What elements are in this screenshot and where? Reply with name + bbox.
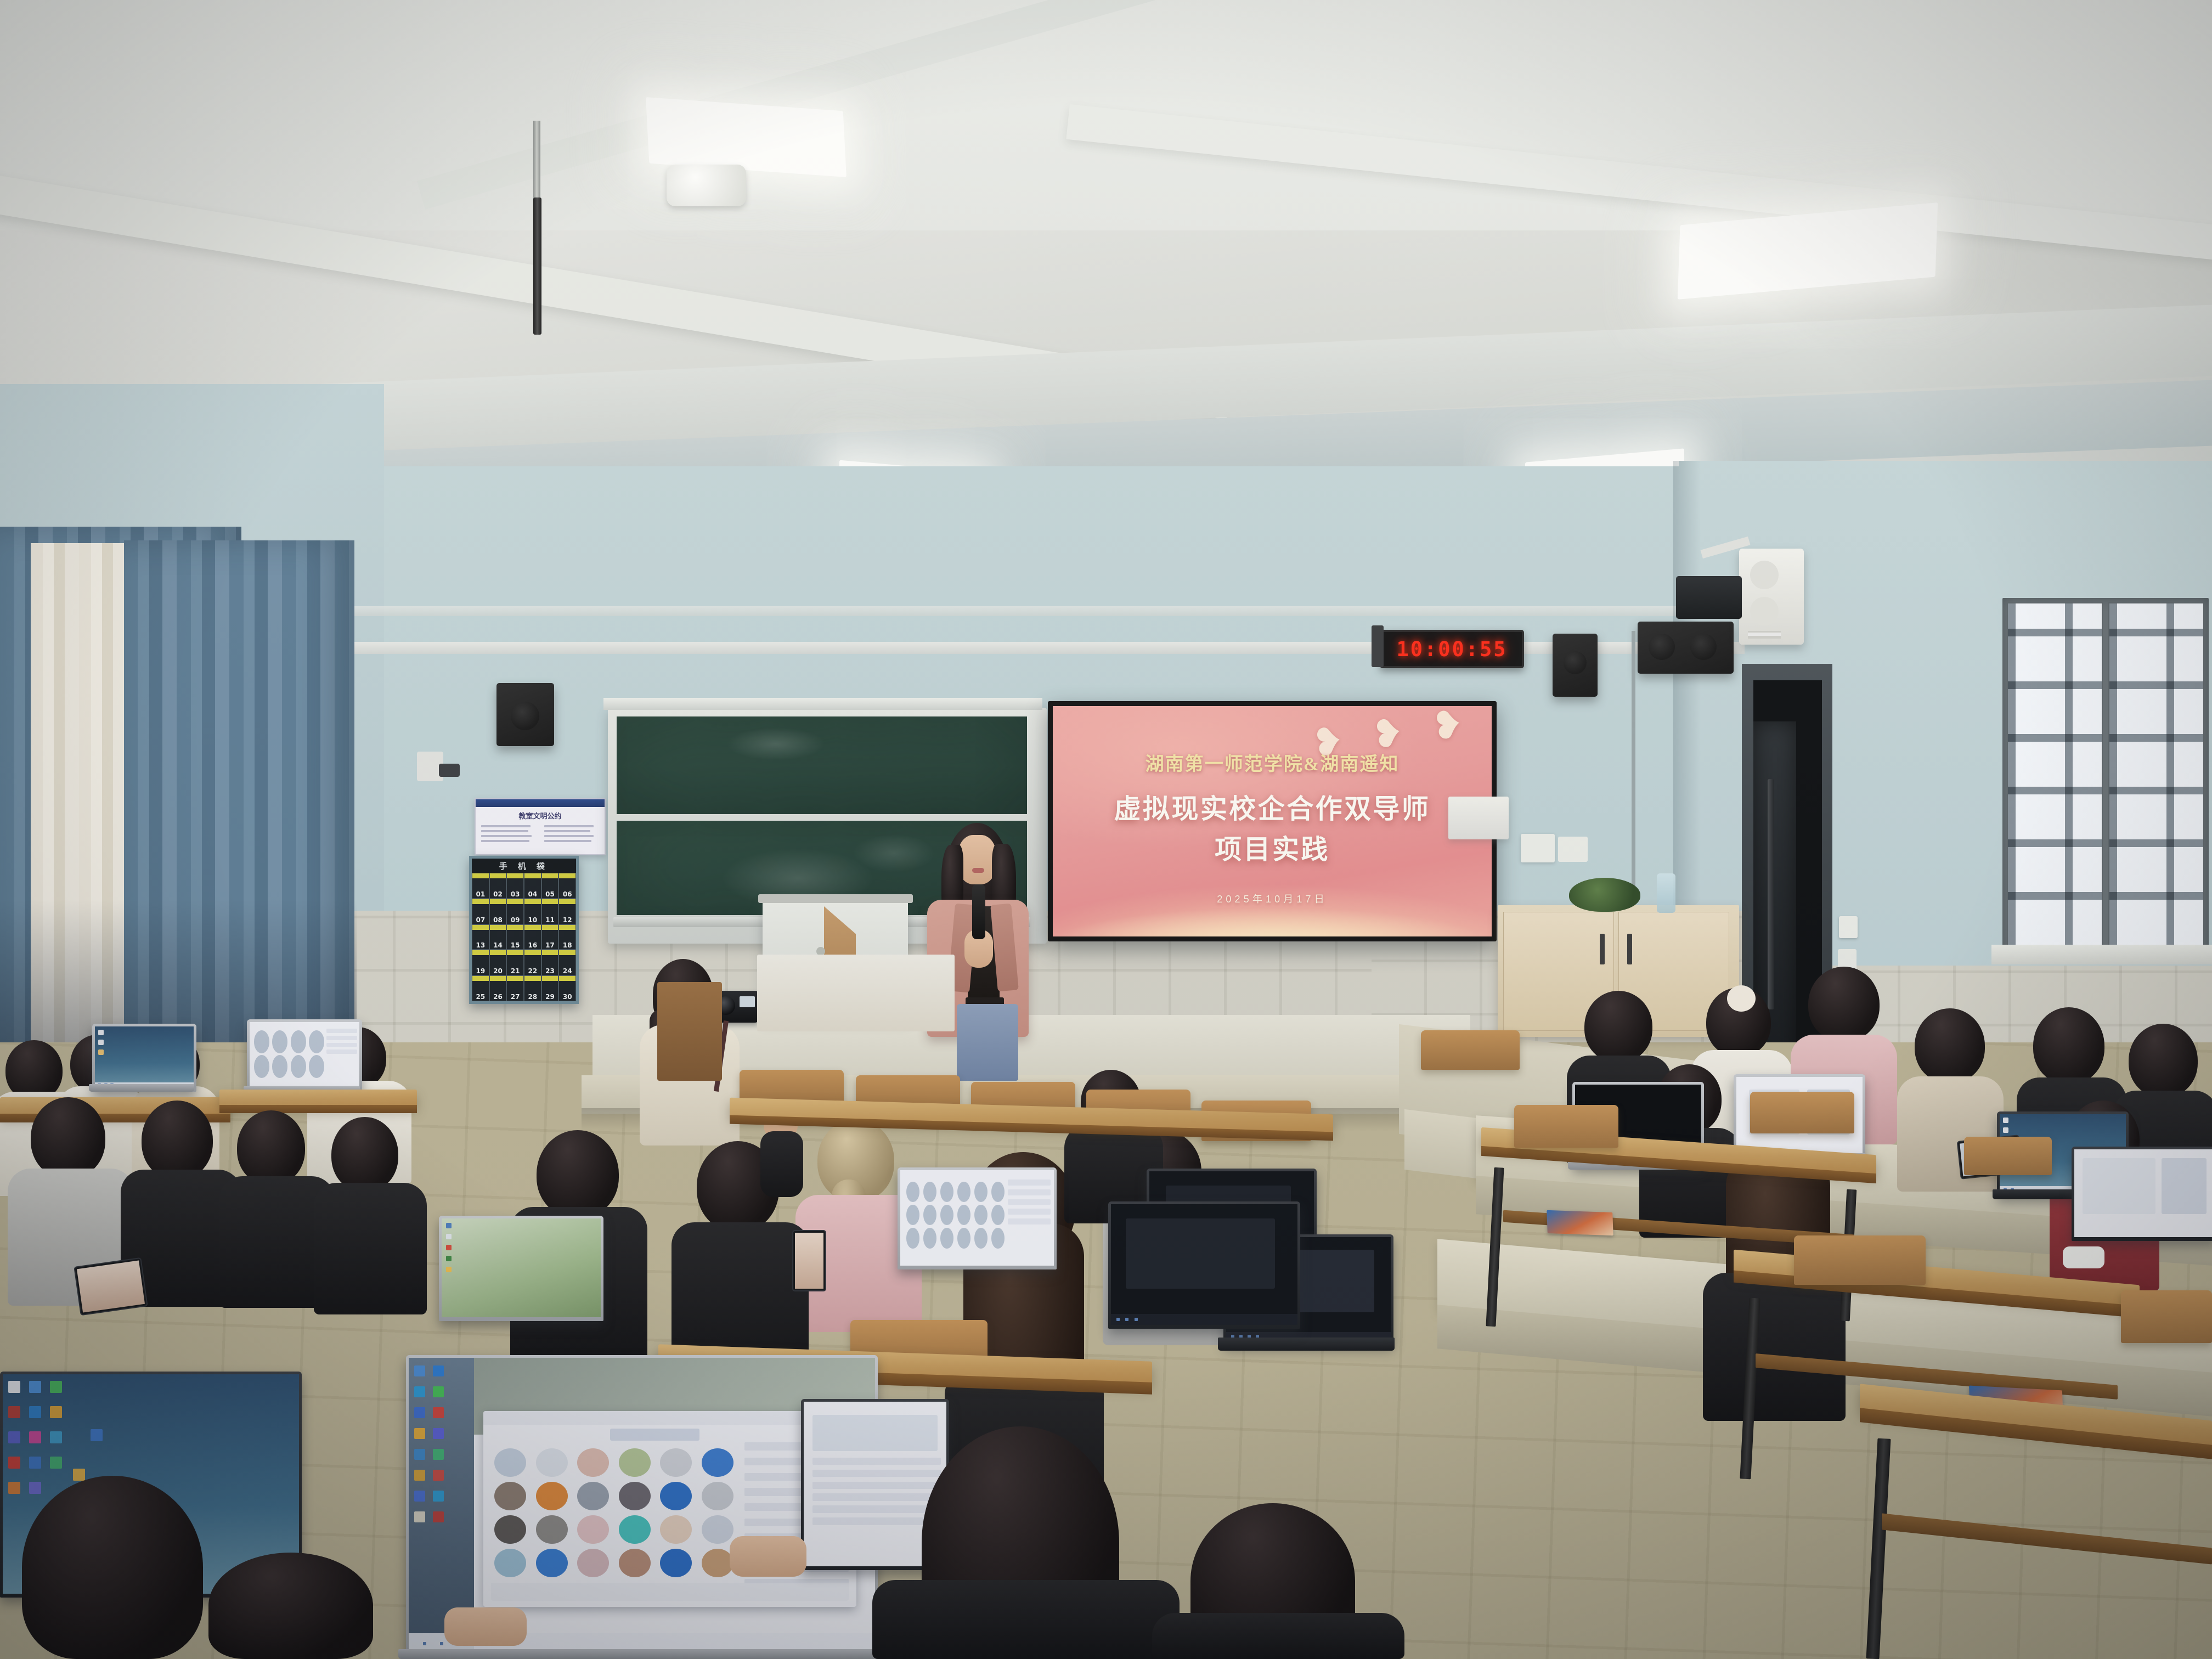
wall-ac-indoor-unit bbox=[1676, 576, 1742, 619]
laptop-screen bbox=[900, 1170, 1054, 1266]
blackboard-upper-rail bbox=[603, 698, 1042, 710]
wall-cabinet[interactable] bbox=[1448, 797, 1509, 839]
phone-pocket[interactable]: 18 bbox=[558, 924, 576, 950]
clock-mount bbox=[1372, 625, 1384, 667]
student-head bbox=[1915, 1008, 1985, 1083]
phone-pocket-number: 19 bbox=[476, 967, 485, 975]
phone-pocket[interactable]: 11 bbox=[541, 899, 559, 924]
window-leaf-right[interactable] bbox=[2108, 602, 2204, 953]
laptop-icon[interactable] bbox=[439, 1216, 603, 1321]
laptop-base[interactable] bbox=[89, 1084, 194, 1092]
hand-on-keyboard bbox=[444, 1607, 527, 1646]
phone-pocket[interactable]: 13 bbox=[472, 924, 489, 950]
air-conditioner bbox=[1739, 549, 1804, 645]
hanging-rod-lower bbox=[533, 198, 541, 335]
speaker-icon bbox=[1553, 634, 1598, 697]
course-booklet[interactable] bbox=[1547, 1210, 1613, 1235]
phone-pocket[interactable]: 21 bbox=[506, 950, 524, 975]
blackboard-panel-upper bbox=[617, 716, 1027, 814]
clock-time: 10:00:55 bbox=[1397, 637, 1508, 661]
microphone-icon[interactable] bbox=[972, 884, 985, 939]
phone-pocket-row: 252627282930 bbox=[472, 975, 576, 1001]
phone-pocket-number: 16 bbox=[528, 941, 538, 949]
projection-screen-content: ❥ ❥ ❥ 湖南第一师范学院&湖南遥知 虚拟现实校企合作双导师 项目实践 202… bbox=[1053, 706, 1492, 936]
laptop-icon[interactable] bbox=[247, 1019, 362, 1094]
window-leaf-left[interactable] bbox=[2007, 602, 2103, 953]
phone-pocket[interactable]: 30 bbox=[558, 975, 576, 1001]
phone-pocket[interactable]: 15 bbox=[506, 924, 524, 950]
presenter-mouth bbox=[972, 868, 984, 873]
student-head bbox=[142, 1101, 213, 1180]
chat-window[interactable] bbox=[483, 1411, 856, 1606]
phone-pocket-number: 17 bbox=[545, 941, 555, 949]
student-head bbox=[2033, 1007, 2104, 1084]
water-bottle[interactable] bbox=[1657, 873, 1675, 913]
phone-pocket-row: 070809101112 bbox=[472, 899, 576, 924]
chair[interactable] bbox=[2121, 1290, 2212, 1343]
phone-pocket-number: 08 bbox=[493, 916, 503, 924]
phone-pocket-row: 131415161718 bbox=[472, 924, 576, 950]
hand-on-keyboard bbox=[730, 1536, 806, 1577]
laptop-icon[interactable] bbox=[2072, 1147, 2212, 1241]
light-switch[interactable] bbox=[1839, 916, 1858, 938]
phone-pocket[interactable]: 26 bbox=[489, 975, 507, 1001]
phone-pocket[interactable]: 07 bbox=[472, 899, 489, 924]
wall-outlet-panel[interactable] bbox=[1521, 834, 1555, 862]
notice-board-title: 教室文明公约 bbox=[476, 810, 605, 821]
student-head bbox=[537, 1130, 619, 1218]
phone-pocket-number: 04 bbox=[528, 890, 538, 898]
wall-camera-icon bbox=[439, 764, 460, 777]
phone-pocket-number: 20 bbox=[493, 967, 503, 975]
chair[interactable] bbox=[1964, 1137, 2052, 1175]
student-head bbox=[237, 1110, 305, 1185]
phone-pocket-number: 15 bbox=[511, 941, 520, 949]
cabinet-handle[interactable] bbox=[1600, 934, 1605, 964]
phone-pocket-number: 12 bbox=[563, 916, 572, 924]
phone-pocket[interactable]: 14 bbox=[489, 924, 507, 950]
notice-board-header bbox=[476, 799, 605, 807]
cabinet-handle[interactable] bbox=[1627, 934, 1632, 964]
phone-pocket-number: 10 bbox=[528, 916, 538, 924]
phone-pocket[interactable]: 22 bbox=[524, 950, 541, 975]
phone-pocket-number: 02 bbox=[493, 890, 503, 898]
phone-pocket-number: 06 bbox=[563, 890, 572, 898]
door-push-bar[interactable] bbox=[1768, 779, 1774, 1009]
lecture-hall-photo: 教室文明公约 手 机 袋 010203040506070809101112131… bbox=[0, 0, 2212, 1659]
phone-pocket[interactable]: 03 bbox=[506, 873, 524, 899]
hair-scrunchie bbox=[1727, 985, 1756, 1012]
smartphone[interactable] bbox=[792, 1230, 826, 1291]
wall-rail bbox=[340, 642, 1745, 654]
phone-pocket-rows: 0102030405060708091011121314151617181920… bbox=[472, 873, 576, 1001]
speaker-icon bbox=[1638, 622, 1734, 674]
wall-outlet-panel[interactable] bbox=[1558, 837, 1588, 862]
phone-pocket-number: 01 bbox=[476, 890, 485, 898]
student-head bbox=[1808, 967, 1880, 1041]
phone-pocket[interactable]: 28 bbox=[524, 975, 541, 1001]
phone-pocket-row: 192021222324 bbox=[472, 950, 576, 975]
chair[interactable] bbox=[1514, 1105, 1618, 1148]
phone-pocket[interactable]: 09 bbox=[506, 899, 524, 924]
student-torso-foreground bbox=[1152, 1613, 1404, 1659]
laptop-screen bbox=[95, 1026, 194, 1088]
smartphone[interactable] bbox=[74, 1257, 148, 1316]
laptop-base[interactable] bbox=[1218, 1338, 1395, 1351]
phone-pocket-number: 22 bbox=[528, 967, 538, 975]
podium-top-edge bbox=[758, 894, 913, 903]
phone-pocket-number: 07 bbox=[476, 916, 485, 924]
laptop-base-foreground[interactable] bbox=[398, 1649, 881, 1659]
screen-subtitle: 湖南第一师范学院&湖南遥知 bbox=[1053, 749, 1492, 776]
hanging-rod bbox=[533, 121, 540, 203]
phone-pocket[interactable]: 06 bbox=[558, 873, 576, 899]
phone-pocket[interactable]: 08 bbox=[489, 899, 507, 924]
student-torso-foreground bbox=[872, 1580, 1180, 1659]
laptop-icon[interactable] bbox=[92, 1024, 196, 1092]
phone-pocket[interactable]: 05 bbox=[541, 873, 559, 899]
phone-pocket-number: 03 bbox=[511, 890, 520, 898]
phone-pocket-row: 010203040506 bbox=[472, 873, 576, 899]
phone-pocket-number: 28 bbox=[528, 993, 538, 1001]
phone-pocket[interactable]: 29 bbox=[541, 975, 559, 1001]
smoke-detector-icon bbox=[667, 165, 746, 206]
projection-screen: ❥ ❥ ❥ 湖南第一师范学院&湖南遥知 虚拟现实校企合作双导师 项目实践 202… bbox=[1048, 701, 1497, 941]
phone-pocket[interactable]: 01 bbox=[472, 873, 489, 899]
student-torso bbox=[314, 1183, 427, 1314]
phone-pocket-number: 13 bbox=[476, 941, 485, 949]
window-sill bbox=[1991, 945, 2212, 964]
phone-pocket[interactable]: 10 bbox=[524, 899, 541, 924]
raised-arm-sleeve bbox=[760, 1131, 803, 1197]
phone-pocket[interactable]: 19 bbox=[472, 950, 489, 975]
phone-pocket[interactable]: 24 bbox=[558, 950, 576, 975]
presenter-jeans bbox=[957, 1004, 1018, 1081]
window[interactable] bbox=[2002, 598, 2209, 958]
phone-pocket[interactable]: 02 bbox=[489, 873, 507, 899]
phone-pocket[interactable]: 23 bbox=[541, 950, 559, 975]
cable-run bbox=[1632, 631, 1635, 916]
phone-pocket-header: 手 机 袋 bbox=[472, 859, 576, 873]
phone-pocket-number: 23 bbox=[545, 967, 555, 975]
student-torso bbox=[1703, 1273, 1846, 1421]
phone-pocket-number: 24 bbox=[563, 967, 572, 975]
student-head bbox=[331, 1117, 398, 1192]
phone-pocket-number: 18 bbox=[563, 941, 572, 949]
laptop-screen bbox=[1111, 1204, 1297, 1325]
laptop-screen bbox=[442, 1218, 601, 1317]
student-head bbox=[31, 1097, 105, 1178]
laptop-screen bbox=[2074, 1149, 2212, 1237]
phone-pocket[interactable]: 25 bbox=[472, 975, 489, 1001]
phone-pocket[interactable]: 20 bbox=[489, 950, 507, 975]
phone-pocket[interactable]: 04 bbox=[524, 873, 541, 899]
chair[interactable] bbox=[1750, 1092, 1854, 1133]
phone-pocket-number: 30 bbox=[563, 993, 572, 1001]
phone-pocket-number: 27 bbox=[511, 993, 520, 1001]
phone-pocket-number: 05 bbox=[545, 890, 555, 898]
student-head bbox=[2129, 1024, 2198, 1097]
student-head bbox=[1584, 991, 1652, 1062]
wall-rail bbox=[340, 606, 1745, 616]
phone-pocket-chart: 手 机 袋 0102030405060708091011121314151617… bbox=[469, 856, 579, 1004]
phone-pocket-number: 09 bbox=[511, 916, 520, 924]
speaker-icon bbox=[496, 683, 554, 746]
student-head-foreground bbox=[208, 1553, 373, 1659]
phone-pocket-number: 25 bbox=[476, 993, 485, 1001]
screen-date: 2025年10月17日 bbox=[1053, 891, 1492, 906]
potted-plant bbox=[1569, 878, 1640, 912]
phone-pocket-number: 11 bbox=[545, 916, 555, 924]
chair[interactable] bbox=[1421, 1030, 1520, 1070]
tissue bbox=[2063, 1246, 2104, 1268]
screen-title-line2: 项目实践 bbox=[1053, 828, 1492, 867]
phone-pocket[interactable]: 12 bbox=[558, 899, 576, 924]
student-head-foreground bbox=[22, 1476, 203, 1659]
laptop-icon[interactable] bbox=[1108, 1201, 1300, 1329]
digital-clock-icon: 10:00:55 bbox=[1380, 630, 1524, 668]
laptop-icon[interactable] bbox=[898, 1167, 1057, 1269]
phone-pocket-number: 21 bbox=[511, 967, 520, 975]
presenter-face bbox=[958, 835, 996, 884]
phone-pocket-number: 26 bbox=[493, 993, 503, 1001]
phone-pocket[interactable]: 16 bbox=[524, 924, 541, 950]
phone-pocket[interactable]: 17 bbox=[541, 924, 559, 950]
laptop-screen bbox=[250, 1022, 359, 1090]
back-partition bbox=[757, 955, 955, 1031]
notice-board: 教室文明公约 bbox=[475, 798, 606, 855]
phone-pocket-number: 29 bbox=[545, 993, 555, 1001]
phone-pocket-number: 14 bbox=[493, 941, 503, 949]
screen-title-line1: 虚拟现实校企合作双导师 bbox=[1053, 787, 1492, 826]
presenter bbox=[911, 823, 1031, 1081]
wooden-board bbox=[657, 982, 722, 1081]
phone-pocket[interactable]: 27 bbox=[506, 975, 524, 1001]
chair[interactable] bbox=[1794, 1235, 1926, 1285]
